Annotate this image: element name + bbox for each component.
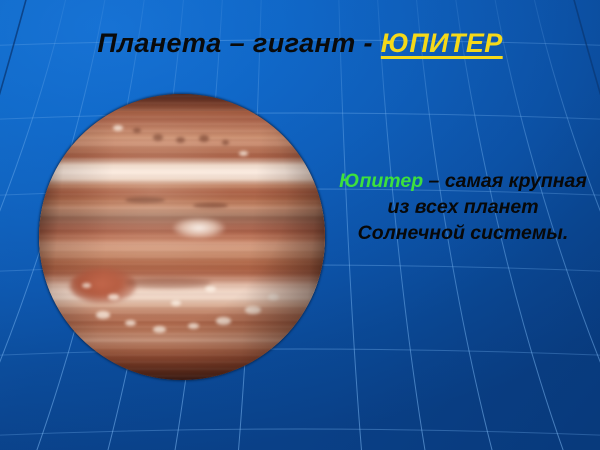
jupiter-planet-image [39,94,325,380]
caption-highlight-jupiter: Юпитер [339,170,423,192]
page-title: Планета – гигант - ЮПИТЕР [0,28,600,59]
title-highlight-jupiter: ЮПИТЕР [381,28,503,58]
presentation-slide: Планета – гигант - ЮПИТЕР Юпитер – самая… [0,0,600,450]
jupiter-terminator-shading [39,94,325,380]
caption-text-block: Юпитер – самая крупная из всех планет Со… [334,168,592,246]
jupiter-sphere [39,94,325,380]
title-prefix-text: Планета – гигант - [97,28,380,58]
